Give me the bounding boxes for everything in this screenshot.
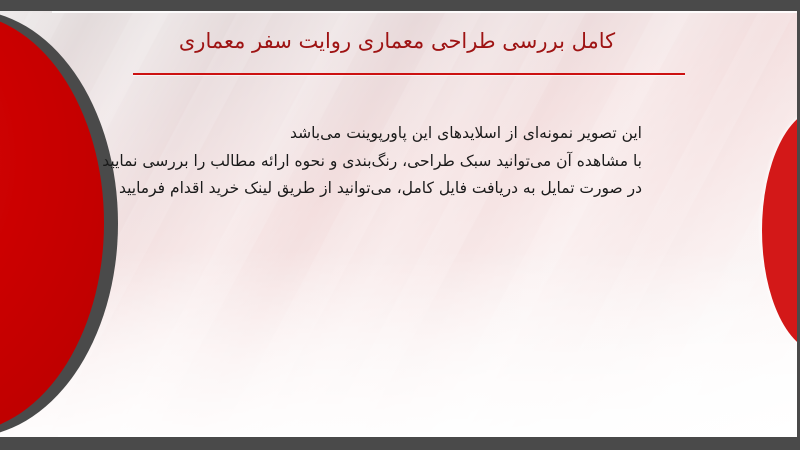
- body-line-3: در صورت تمایل به دریافت فایل کامل، می‌تو…: [112, 175, 642, 203]
- slide-body-text: این تصویر نمونه‌ای از اسلایدهای این پاور…: [112, 120, 642, 203]
- presentation-slide: کامل بررسی طراحی معماری روایت سفر معماری…: [0, 0, 800, 450]
- slide-text-content: کامل بررسی طراحی معماری روایت سفر معماری…: [0, 0, 800, 450]
- body-line-1: این تصویر نمونه‌ای از اسلایدهای این پاور…: [112, 120, 642, 148]
- body-line-2: با مشاهده آن می‌توانید سبک طراحی، رنگ‌بن…: [112, 148, 642, 176]
- title-underline-rule: [133, 73, 685, 75]
- slide-title: کامل بررسی طراحی معماری روایت سفر معماری: [112, 28, 682, 54]
